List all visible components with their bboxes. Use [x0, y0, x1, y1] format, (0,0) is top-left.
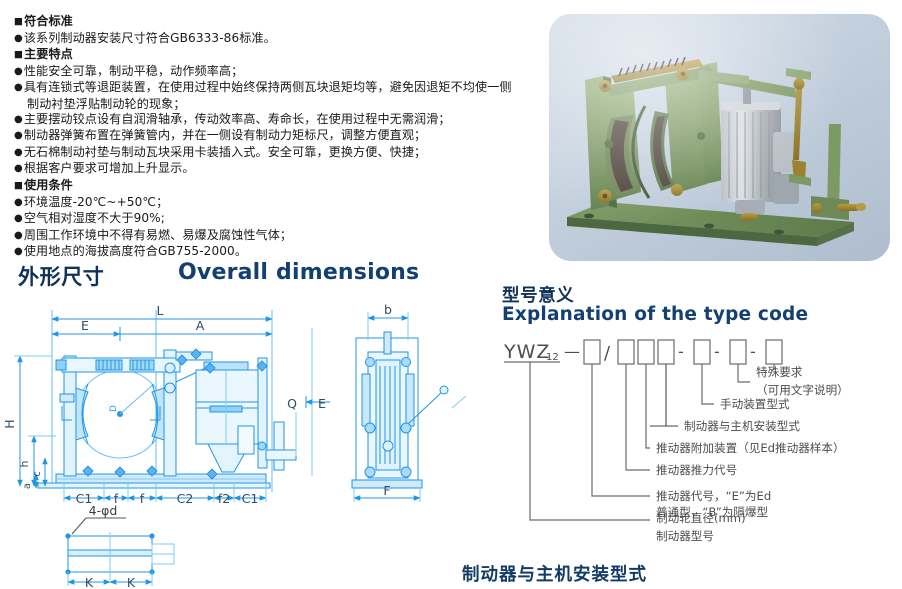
dim-label-C1-right: C1	[242, 491, 259, 506]
dim-label-L: L	[157, 303, 164, 318]
hole-callout-label: 4-φd	[89, 503, 118, 518]
page-title-dimensions-en: Overall dimensions	[178, 260, 419, 285]
spec-line: 空气相对湿度不大于90%;	[14, 211, 534, 228]
dim-label-h: h	[18, 460, 31, 467]
product-photo	[549, 14, 890, 261]
bottom-caption: 制动器与主机安装型式	[462, 561, 647, 586]
dim-label-E-top: E	[81, 318, 89, 333]
dim-label-f2: f2	[218, 491, 230, 506]
dim-label-K-2: K	[127, 575, 136, 589]
page-title-dimensions-cn: 外形尺寸	[18, 261, 104, 291]
dim-label-b: b	[384, 302, 392, 317]
spec-line: 制动器弹簧布置在弹簧管内，并在一侧设有制动力矩标尺，调整方便直观；	[14, 128, 534, 145]
page-root: 符合标准 该系列制动器安装尺寸符合GB6333-86标准。 主要特点 性能安全可…	[0, 0, 902, 589]
dim-label-f-2: f	[140, 491, 145, 506]
spec-line: 无石棉制动衬垫与制动瓦块采用卡装插入式。安全可靠，更换方便、快捷；	[14, 145, 534, 162]
photo-gloss-overlay	[549, 14, 890, 261]
specification-text-block: 符合标准 该系列制动器安装尺寸符合GB6333-86标准。 主要特点 性能安全可…	[14, 14, 534, 261]
spec-line: 使用地点的海拔高度符合GB755-2000。	[14, 244, 534, 261]
dim-label-F: F	[383, 483, 390, 498]
spec-line: 具有连锁式等退距装置，在使用过程中始终保持两侧瓦块退矩均等，避免因退矩不均使一侧	[14, 80, 534, 97]
spec-line: 环境温度-20℃~+50℃；	[14, 195, 534, 212]
page-title-typecode-en: Explanation of the type code	[502, 304, 808, 325]
svg-text:D: D	[109, 405, 119, 412]
spec-line: 该系列制动器安装尺寸符合GB6333-86标准。	[14, 31, 534, 48]
spec-line: 制动衬垫浮贴制动轮的现象；	[14, 97, 534, 112]
spec-line: 符合标准	[14, 14, 534, 31]
typecode-extra-callouts: 制动轮直径(mm)	[498, 336, 902, 548]
spec-line: 使用条件	[14, 178, 534, 195]
spec-line: 主要特点	[14, 47, 534, 64]
callout-brake-wheel-diameter: 制动轮直径(mm)	[656, 511, 746, 525]
dim-label-K-1: K	[85, 575, 94, 589]
spec-line: 性能安全可靠，制动平稳，动作频率高；	[14, 64, 534, 81]
spec-line: 根据客户要求可增加上升显示。	[14, 161, 534, 178]
dimension-drawing: D	[0, 296, 470, 589]
dim-label-E-right: E	[318, 396, 326, 411]
dim-label-c: c	[32, 471, 43, 477]
dim-label-A: A	[196, 318, 205, 333]
dim-label-Q: Q	[287, 396, 297, 411]
spec-line: 周围工作环境中不得有易燃、易爆及腐蚀性气体；	[14, 228, 534, 245]
dim-label-a: a	[22, 483, 33, 489]
spec-line: 主要摆动铰点设有自润滑轴承，传动效率高、寿命长，在使用过程中无需润滑；	[14, 112, 534, 129]
dim-label-C2: C2	[177, 491, 194, 506]
dim-label-H: H	[2, 419, 17, 428]
